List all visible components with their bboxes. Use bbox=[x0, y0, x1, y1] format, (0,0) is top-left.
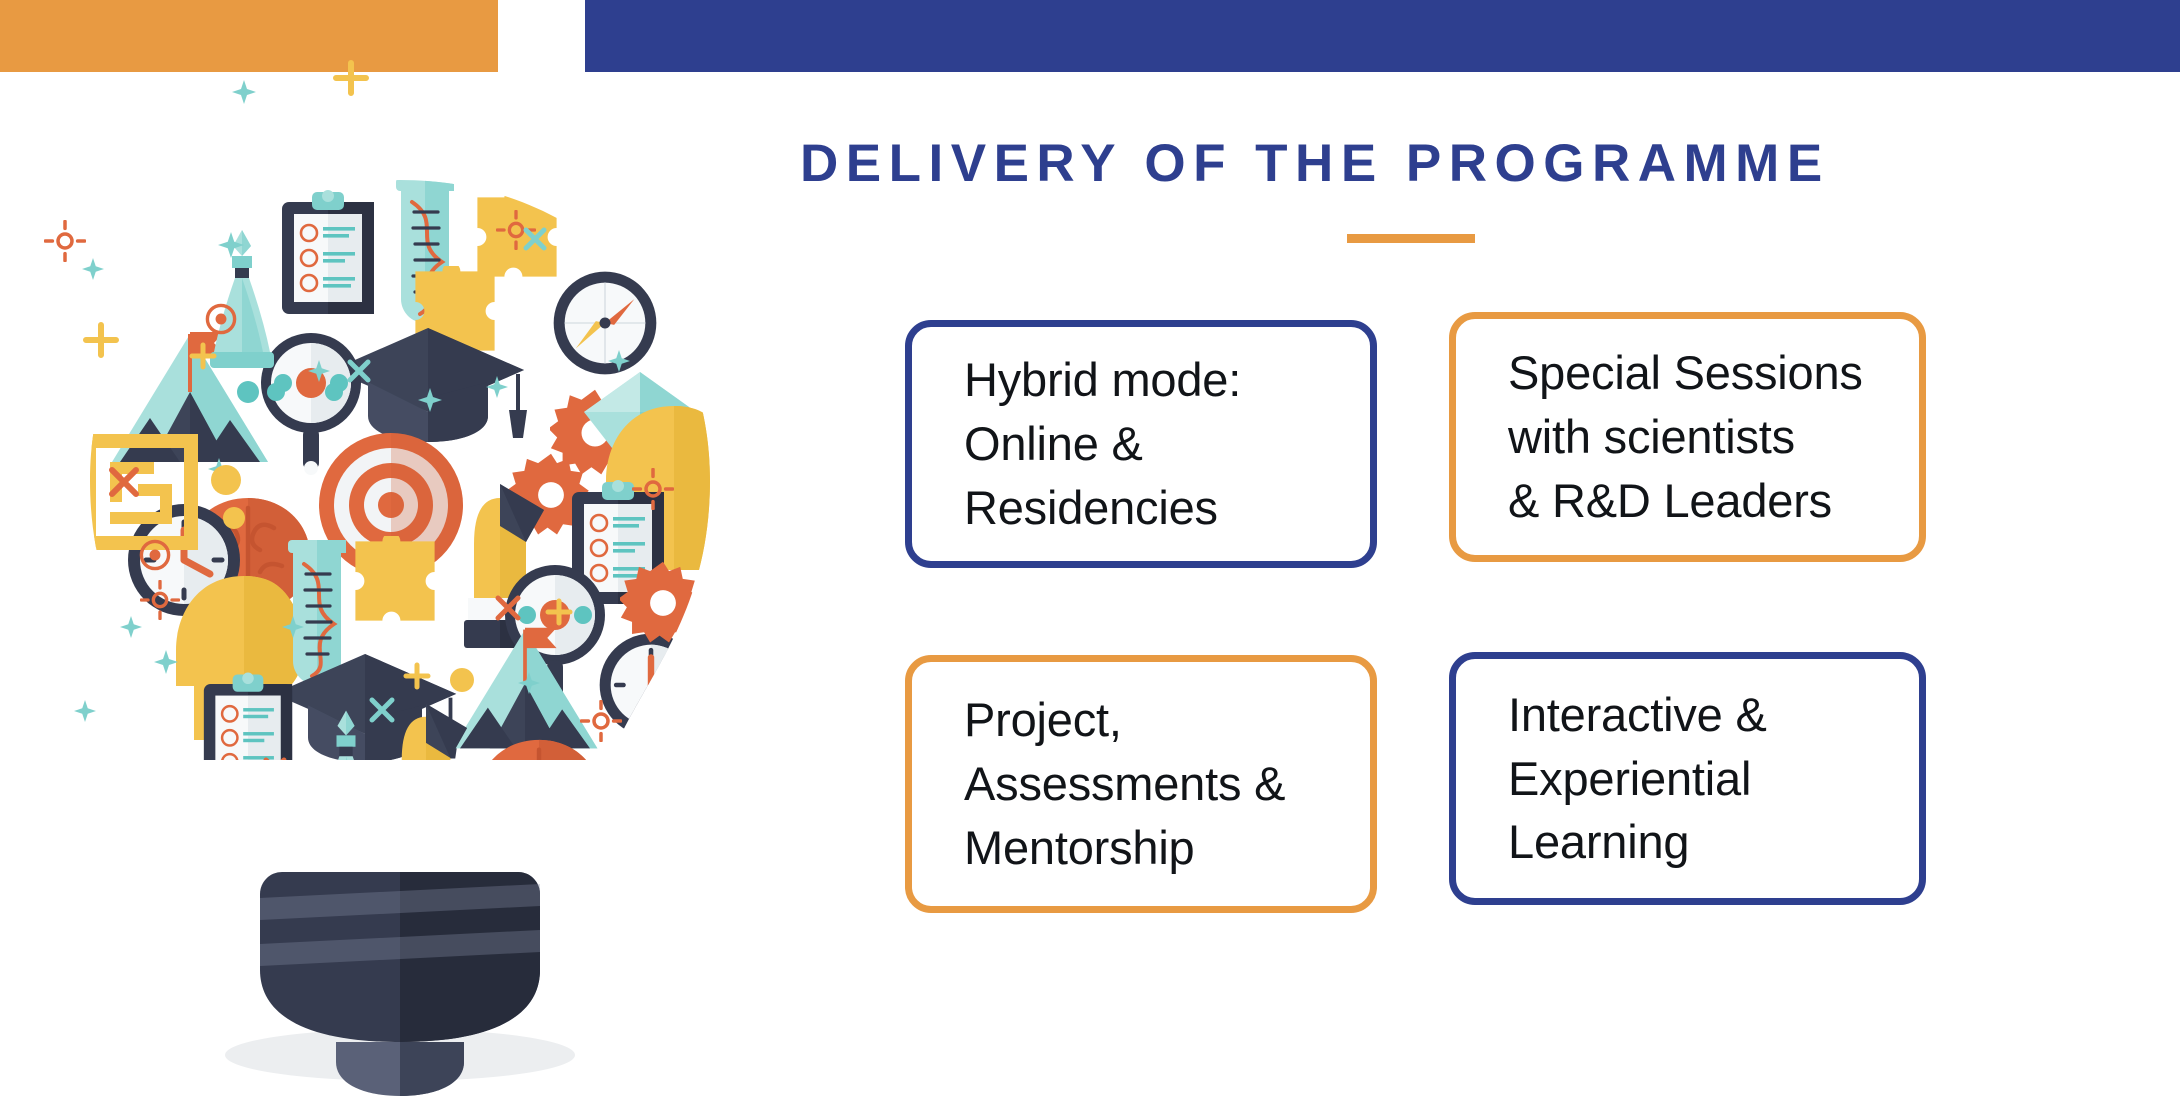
slide-root: DELIVERY OF THE PROGRAMME Hybrid mode: O… bbox=[0, 0, 2180, 1114]
page-title: DELIVERY OF THE PROGRAMME bbox=[800, 133, 2130, 194]
content-box-interactive-learning[interactable]: Interactive & Experiential Learning bbox=[1449, 652, 1926, 905]
content-box-label: Special Sessions with scientists & R&D L… bbox=[1508, 341, 1863, 533]
content-box-label: Interactive & Experiential Learning bbox=[1508, 683, 1767, 875]
content-box-label: Project, Assessments & Mentorship bbox=[964, 688, 1285, 880]
content-box-hybrid-mode[interactable]: Hybrid mode: Online & Residencies bbox=[905, 320, 1377, 568]
content-box-special-sessions[interactable]: Special Sessions with scientists & R&D L… bbox=[1449, 312, 1926, 562]
content-box-label: Hybrid mode: Online & Residencies bbox=[964, 348, 1241, 540]
title-underline-rule bbox=[1347, 234, 1475, 243]
content-box-project-assessments[interactable]: Project, Assessments & Mentorship bbox=[905, 655, 1377, 913]
topbar-blue-block bbox=[585, 0, 2180, 72]
lightbulb-illustration bbox=[20, 60, 780, 1100]
bulb-icon-collage bbox=[82, 178, 734, 915]
